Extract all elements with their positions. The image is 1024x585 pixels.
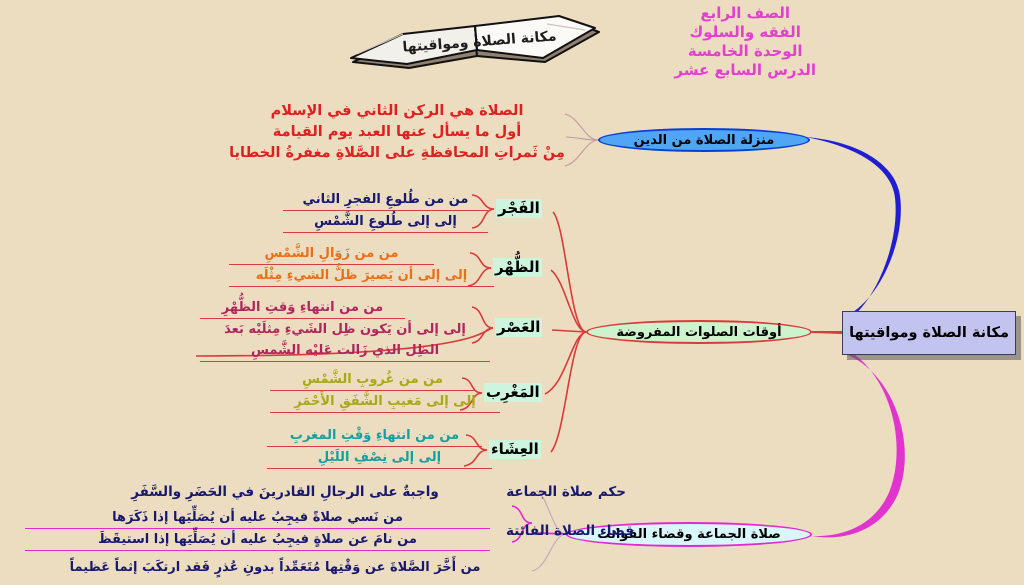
jamaah-items-qada: من نَسي صلاةً فيجِبُ عليه أن يُصَلِّيَها… (25, 507, 490, 551)
maghrib-to: إلى إلى مَغيبِ الشَّفَقِ الأَحْمَرِ (270, 391, 500, 413)
asr-to-2: الظِل الذي زَالت عَليْه الشَّمسِ (200, 340, 490, 362)
prayer-chip-asr[interactable]: العَصْر (495, 318, 542, 337)
isha-to: إلى إلى نِصْفِ اللَيْلِ (267, 447, 492, 469)
fajr-times: من من طُلوعِ الفجرِ الثاني إلى إلى طُلوع… (283, 189, 488, 233)
prayer-chip-isha-label: العِشَاء (491, 440, 539, 458)
trunk-jamaah (812, 349, 905, 537)
asr-to-1: إلى إلى أن يَكون ظِل الشَيءِ مِثلَيْه بَ… (200, 319, 490, 340)
branch-node-manzilah[interactable]: منزلة الصلاة من الدين (598, 128, 810, 152)
isha-from: من من انتهاءِ وَقْتِ المغربِ (267, 425, 482, 447)
jamaah-item-1: واجبةٌ على الرجالِ القادرينَ في الحَضَرِ… (90, 482, 480, 503)
jamaah-sublabel-qada[interactable]: قضاء الصلاة الفائتة (506, 521, 634, 542)
maghrib-from: من من غُروبِ الشَّمْسِ (270, 369, 475, 391)
isha-times: من من انتهاءِ وَقْتِ المغربِ إلى إلى نِص… (267, 425, 492, 469)
prayer-chip-isha[interactable]: العِشَاء (489, 440, 541, 459)
jamaah-item-3: من نامَ عن صلاةٍ فيجِبُ عليه أن يُصَلِّي… (25, 529, 490, 551)
jamaah-sublabel-qada-text: قضاء الصلاة الفائتة (506, 521, 634, 542)
header-line-grade: الصف الرابع (674, 4, 816, 23)
dhuhr-to: إلى إلى أن يَصيرَ ظلُّ الشيءِ مِثْلَه (229, 265, 494, 287)
dhuhr-times: من من زَوَالِ الشَّمْسِ إلى إلى أن يَصير… (229, 243, 494, 287)
lesson-header: الصف الرابع الفقه والسلوك الوحدة الخامسة… (674, 4, 816, 80)
dhuhr-from: من من زَوَالِ الشَّمْسِ (229, 243, 434, 265)
prayer-chip-fajr-label: الفَجْر (498, 199, 540, 217)
prayer-chip-dhuhr-label: الظُّهْر (495, 258, 540, 276)
jamaah-item-hukm: واجبةٌ على الرجالِ القادرينَ في الحَضَرِ… (90, 482, 480, 503)
jamaah-sublabel-hukm[interactable]: حكم صلاة الجماعة (506, 482, 626, 503)
central-topic-label: مكانة الصلاة ومواقيتها (849, 325, 1009, 341)
asr-from: من من انتهاءِ وَقتِ الظُّهْرِ (200, 297, 405, 319)
awqat-subconnectors (545, 212, 586, 452)
central-topic-node[interactable]: مكانة الصلاة ومواقيتها (842, 311, 1016, 355)
manzilah-item-2: أول ما يسأل عنها العبد يوم القيامة (222, 122, 572, 143)
asr-times: من من انتهاءِ وَقتِ الظُّهْرِ إلى إلى أن… (200, 297, 490, 362)
manzilah-items: الصلاة هي الركن الثاني في الإسلام أول ما… (222, 101, 572, 164)
fajr-to: إلى إلى طُلوعِ الشَّمْسِ (283, 211, 488, 233)
mindmap-canvas: الصف الرابع الفقه والسلوك الوحدة الخامسة… (0, 0, 1024, 585)
manzilah-item-1: الصلاة هي الركن الثاني في الإسلام (222, 101, 572, 122)
jamaah-sublabel-hukm-text: حكم صلاة الجماعة (506, 482, 626, 503)
trunk-manzilah (806, 137, 901, 322)
branch-node-awqat-label: أوقات الصلوات المفروضة (616, 325, 781, 340)
prayer-chip-fajr[interactable]: الفَجْر (496, 199, 542, 218)
jamaah-item-warning: من أَخَّرَ الصَّلاةَ عن وَقْتِها مُتَعَم… (20, 557, 530, 578)
maghrib-times: من من غُروبِ الشَّمْسِ إلى إلى مَغيبِ ال… (270, 369, 500, 413)
branch-node-awqat[interactable]: أوقات الصلوات المفروضة (586, 320, 812, 344)
header-line-subject: الفقه والسلوك (674, 23, 816, 42)
header-line-unit: الوحدة الخامسة (674, 42, 816, 61)
jamaah-item-2: من نَسي صلاةً فيجِبُ عليه أن يُصَلِّيَها… (25, 507, 490, 529)
fajr-from: من من طُلوعِ الفجرِ الثاني (283, 189, 488, 211)
manzilah-item-3: مِنْ ثَمراتِ المحافظةِ على الصَّلاةِ مغف… (222, 143, 572, 164)
header-line-lesson: الدرس السابع عشر (674, 61, 816, 80)
prayer-chip-asr-label: العَصْر (497, 318, 540, 336)
branch-node-manzilah-label: منزلة الصلاة من الدين (634, 133, 775, 148)
trunk-awqat (812, 331, 842, 334)
jamaah-item-4: من أَخَّرَ الصَّلاةَ عن وَقْتِها مُتَعَم… (20, 557, 530, 578)
prayer-chip-dhuhr[interactable]: الظُّهْر (493, 258, 542, 277)
